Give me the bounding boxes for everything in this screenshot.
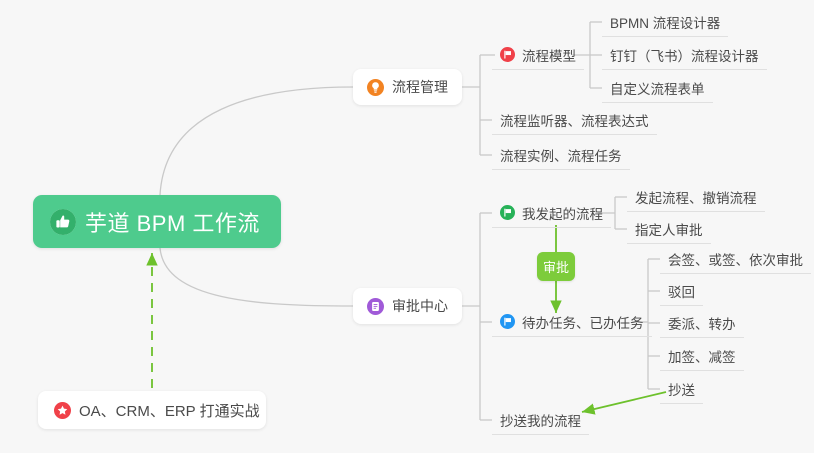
node-bpmn-designer[interactable]: BPMN 流程设计器	[602, 7, 728, 37]
branch-node-process-mgmt[interactable]: 流程管理	[353, 69, 462, 105]
branch-node-approval-center[interactable]: 审批中心	[353, 288, 462, 324]
lightbulb-icon	[367, 79, 384, 96]
node-label-process-instance-task: 流程实例、流程任务	[500, 145, 622, 165]
node-countersign[interactable]: 会签、或签、依次审批	[660, 244, 811, 274]
thumbs-up-icon	[50, 209, 76, 235]
node-integration-practice-label: OA、CRM、ERP 打通实战	[79, 400, 260, 421]
node-cc[interactable]: 抄送	[660, 374, 703, 404]
edge-root-to-approval-center	[160, 248, 353, 306]
flag-icon	[500, 205, 515, 220]
node-process-instance-task[interactable]: 流程实例、流程任务	[492, 140, 630, 170]
node-add-remove-sign[interactable]: 加签、减签	[660, 341, 744, 371]
flag-icon	[500, 314, 515, 329]
node-label-process-listener-expression: 流程监听器、流程表达式	[500, 110, 649, 130]
node-label-delegate-transfer: 委派、转办	[668, 313, 736, 333]
star-icon	[54, 402, 71, 419]
node-custom-process-form[interactable]: 自定义流程表单	[602, 73, 713, 103]
node-label-process-model: 流程模型	[522, 45, 576, 65]
node-label-assignee-approval: 指定人审批	[635, 219, 703, 239]
node-label-start-cancel-process: 发起流程、撤销流程	[635, 187, 757, 207]
annotation-tag-approval-label: 审批	[543, 257, 569, 276]
mindmap-canvas: 芋道 BPM 工作流 流程管理 审批中心	[0, 0, 814, 453]
node-process-listener-expression[interactable]: 流程监听器、流程表达式	[492, 105, 657, 135]
node-dingtalk-feishu-designer[interactable]: 钉钉（飞书）流程设计器	[602, 40, 767, 70]
node-start-cancel-process[interactable]: 发起流程、撤销流程	[627, 182, 765, 212]
node-label-reject: 驳回	[668, 281, 695, 301]
node-integration-practice[interactable]: OA、CRM、ERP 打通实战	[38, 391, 266, 429]
branch-label-approval-center: 审批中心	[392, 296, 448, 316]
root-node[interactable]: 芋道 BPM 工作流	[33, 195, 281, 248]
node-delegate-transfer[interactable]: 委派、转办	[660, 308, 744, 338]
edge-root-to-process-mgmt	[160, 87, 353, 195]
clipboard-icon	[367, 298, 384, 315]
root-label: 芋道 BPM 工作流	[85, 206, 260, 238]
node-my-started-process[interactable]: 我发起的流程	[492, 198, 611, 228]
node-label-countersign: 会签、或签、依次审批	[668, 249, 803, 269]
node-label-cc: 抄送	[668, 379, 695, 399]
flag-icon	[500, 47, 515, 62]
node-label-todo-done-task: 待办任务、已办任务	[522, 312, 644, 332]
node-label-add-remove-sign: 加签、减签	[668, 346, 736, 366]
node-todo-done-task[interactable]: 待办任务、已办任务	[492, 307, 652, 337]
edge-annotation-cc-flow	[582, 392, 666, 412]
node-process-model[interactable]: 流程模型	[492, 40, 584, 70]
node-label-cc-to-me-process: 抄送我的流程	[500, 410, 581, 430]
node-label-bpmn-designer: BPMN 流程设计器	[610, 12, 720, 32]
node-reject[interactable]: 驳回	[660, 276, 703, 306]
node-label-my-started-process: 我发起的流程	[522, 203, 603, 223]
branch-label-process-mgmt: 流程管理	[392, 77, 448, 97]
node-assignee-approval[interactable]: 指定人审批	[627, 214, 711, 244]
node-label-dingtalk-feishu-designer: 钉钉（飞书）流程设计器	[610, 45, 759, 65]
node-label-custom-process-form: 自定义流程表单	[610, 78, 705, 98]
node-cc-to-me-process[interactable]: 抄送我的流程	[492, 405, 589, 435]
annotation-tag-approval: 审批	[537, 252, 575, 281]
